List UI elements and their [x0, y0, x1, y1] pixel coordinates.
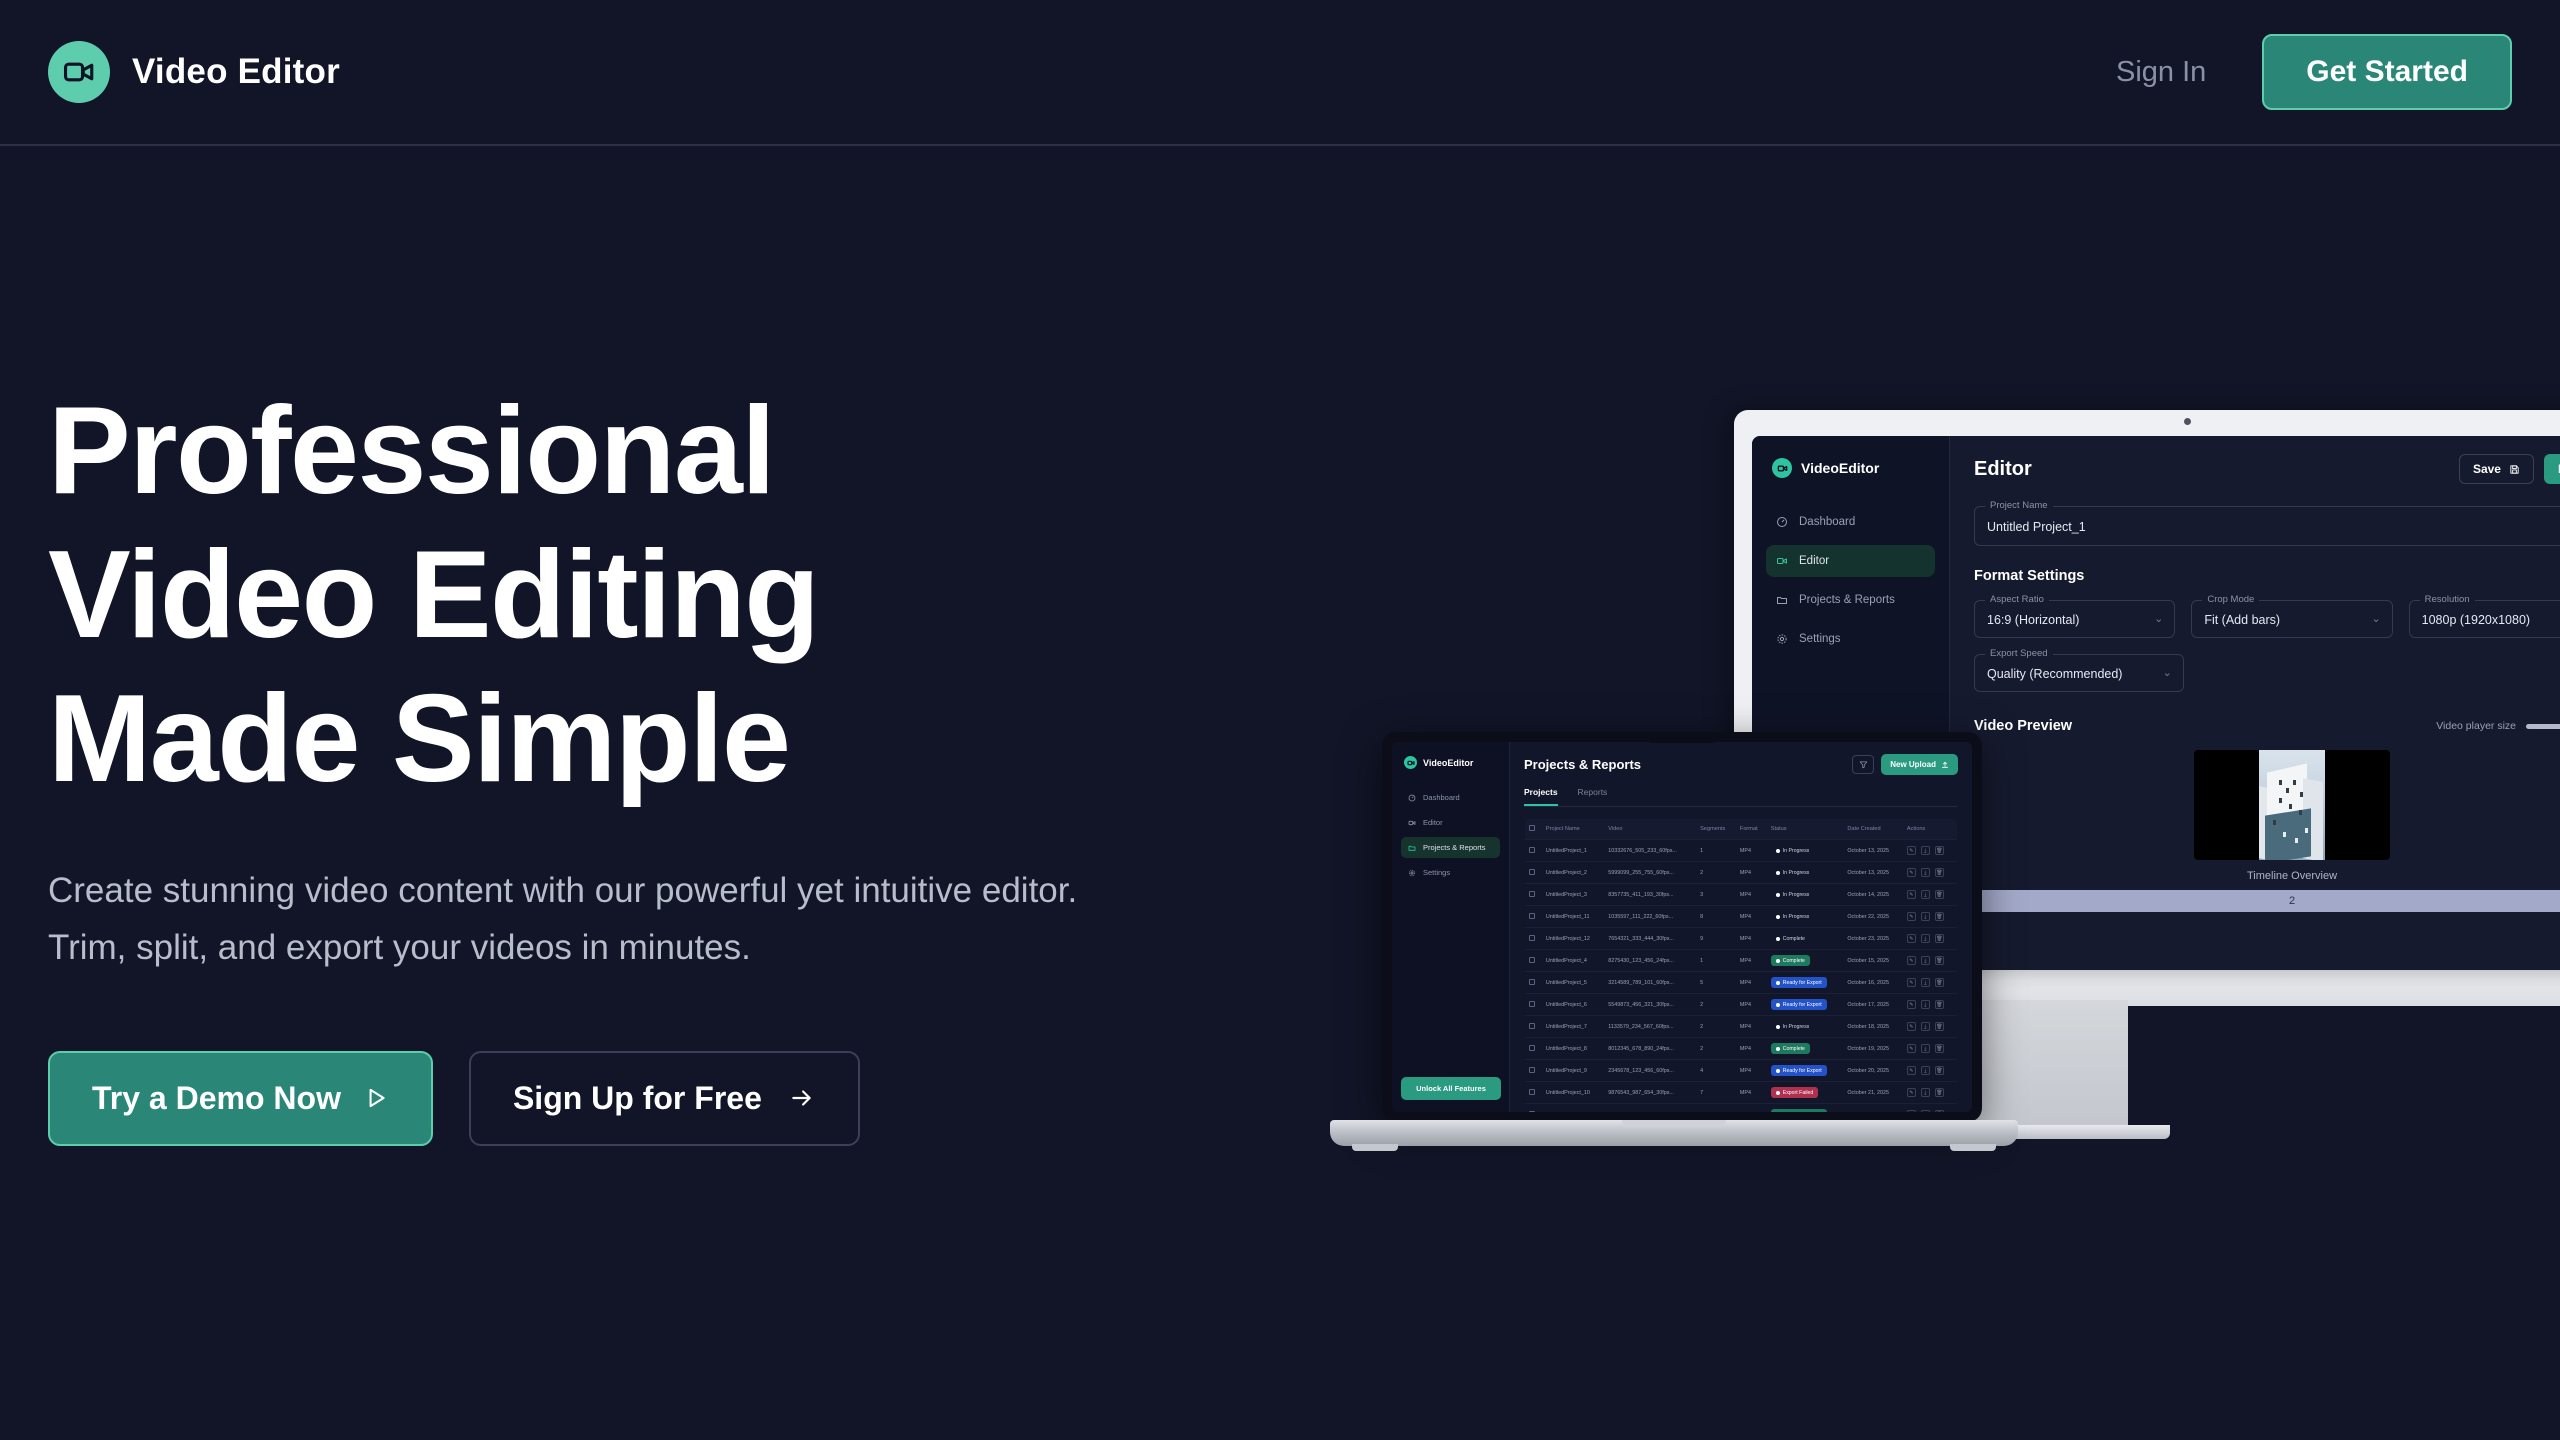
table-row[interactable]: UntitledProject_111035597_111_222_60fps.… — [1525, 906, 1958, 928]
trash-icon[interactable]: 🗑 — [1935, 956, 1944, 965]
cell-date-created: October 24, 2025 — [1843, 1104, 1903, 1113]
trash-icon[interactable]: 🗑 — [1935, 1044, 1944, 1053]
sign-up-button[interactable]: Sign Up for Free — [469, 1051, 860, 1146]
sign-up-label: Sign Up for Free — [513, 1080, 762, 1117]
col-format[interactable]: Format — [1736, 819, 1767, 840]
cell-video: 1035597_111_222_60fps... — [1604, 906, 1696, 928]
status-badge: Complete — [1771, 955, 1810, 966]
sidebar-label: Dashboard — [1799, 516, 1855, 528]
cell-date-created: October 17, 2025 — [1843, 994, 1903, 1016]
aspect-ratio-value: 16:9 (Horizontal) — [1987, 613, 2079, 627]
status-badge: Complete — [1771, 933, 1810, 944]
cell-status: Ready for Export — [1767, 994, 1844, 1016]
editor-main: Editor Save Export Project — [1950, 436, 2560, 970]
cell-status: Ready for Export — [1767, 1060, 1844, 1082]
edit-icon[interactable]: ✎ — [1907, 1000, 1916, 1009]
download-icon[interactable]: ⤓ — [1921, 1066, 1930, 1075]
cell-date-created: October 20, 2025 — [1843, 1060, 1903, 1082]
sidebar-item-dashboard[interactable]: Dashboard — [1401, 787, 1500, 808]
laptop-base-notch — [1622, 1120, 1726, 1127]
sidebar-item-dashboard[interactable]: Dashboard — [1766, 506, 1935, 538]
export-speed-label: Export Speed — [1985, 648, 2053, 659]
edit-icon[interactable]: ✎ — [1907, 1066, 1916, 1075]
projects-main: Projects & Reports New Upload — [1510, 742, 1972, 1112]
sidebar-label: Settings — [1423, 868, 1450, 877]
page-title: Professional Video Editing Made Simple — [48, 380, 1148, 811]
row-checkbox[interactable] — [1525, 994, 1542, 1016]
hero-subtitle: Create stunning video content with our p… — [48, 863, 1118, 976]
cell-date-created: October 21, 2025 — [1843, 1082, 1903, 1104]
cell-project-name: UntitledProject_10 — [1542, 1082, 1604, 1104]
edit-icon[interactable]: ✎ — [1907, 978, 1916, 987]
format-settings-row-2: Export Speed Quality (Recommended) ⌄ — [1974, 654, 2560, 692]
cell-status: In Progress — [1767, 840, 1844, 862]
laptop-lid: VideoEditor Dashboard Editor Projec — [1382, 732, 1982, 1122]
brand-name: Video Editor — [132, 52, 340, 92]
site-header: Video Editor Sign In Get Started — [0, 0, 2560, 146]
cell-segments: 3 — [1696, 884, 1736, 906]
edit-icon[interactable]: ✎ — [1907, 912, 1916, 921]
cell-segments: 9 — [1696, 928, 1736, 950]
upload-icon — [1941, 761, 1949, 769]
projects-table: Project Name Video Segments Format Statu… — [1524, 818, 1958, 1112]
cell-format: MP4 — [1736, 950, 1767, 972]
gauge-icon — [1776, 516, 1788, 528]
cell-status: Complete — [1767, 928, 1844, 950]
edit-icon[interactable]: ✎ — [1907, 956, 1916, 965]
cell-actions: ✎⤓🗑 — [1903, 1060, 1958, 1082]
cell-actions: ✎⤓🗑 — [1903, 994, 1958, 1016]
chevron-down-icon: ⌄ — [2154, 612, 2163, 625]
cell-actions: ✎⤓🗑 — [1903, 906, 1958, 928]
player-size-control[interactable]: Video player size — [2436, 720, 2560, 732]
cell-actions: ✎⤓🗑 — [1903, 1016, 1958, 1038]
chevron-down-icon: ⌄ — [2163, 666, 2172, 679]
download-icon[interactable]: ⤓ — [1921, 1022, 1930, 1031]
sidebar-label: Projects & Reports — [1799, 594, 1895, 606]
trash-icon[interactable]: 🗑 — [1935, 1110, 1944, 1112]
edit-icon[interactable]: ✎ — [1907, 890, 1916, 899]
cell-format: MP4 — [1736, 1038, 1767, 1060]
cell-segments: 2 — [1696, 1016, 1736, 1038]
cell-actions: ✎⤓🗑 — [1903, 1104, 1958, 1113]
video-camera-icon — [1404, 756, 1417, 769]
editor-topbar-buttons: Save Export — [2459, 454, 2560, 484]
project-name-field[interactable]: Project Name Untitled Project_1 — [1974, 506, 2560, 546]
laptop-foot-left — [1352, 1144, 1398, 1151]
status-badge: In Progress — [1771, 845, 1815, 856]
hero-title-line-3: Made Simple — [48, 668, 1148, 812]
projects-brand-name: VideoEditor — [1423, 758, 1473, 768]
aspect-ratio-label: Aspect Ratio — [1985, 594, 2049, 605]
player-size-label: Video player size — [2436, 720, 2516, 732]
cell-date-created: October 13, 2025 — [1843, 862, 1903, 884]
table-row[interactable]: UntitledProject_38357735_411_193_30fps..… — [1525, 884, 1958, 906]
editor-brand: VideoEditor — [1766, 458, 1935, 478]
col-segments[interactable]: Segments — [1696, 819, 1736, 840]
row-checkbox[interactable] — [1525, 1060, 1542, 1082]
status-badge: Complete — [1771, 1043, 1810, 1054]
edit-icon[interactable]: ✎ — [1907, 934, 1916, 943]
sidebar-item-editor[interactable]: Editor — [1766, 545, 1935, 577]
cell-project-name: UntitledProject_13 — [1542, 1104, 1604, 1113]
format-settings-title: Format Settings — [1974, 568, 2560, 584]
projects-tabs: Projects Reports — [1524, 787, 1958, 807]
col-status[interactable]: Status — [1767, 819, 1844, 840]
video-icon — [1408, 819, 1416, 827]
crop-mode-select[interactable]: Crop Mode Fit (Add bars) ⌄ — [2191, 600, 2392, 638]
trash-icon[interactable]: 🗑 — [1935, 1088, 1944, 1097]
video-camera-icon — [1772, 458, 1792, 478]
cell-video: 1357924_555_666_60fps... — [1604, 1104, 1696, 1113]
editor-brand-name: VideoEditor — [1801, 460, 1879, 476]
crop-mode-label: Crop Mode — [2202, 594, 2259, 605]
trash-icon[interactable]: 🗑 — [1935, 1022, 1944, 1031]
play-icon — [363, 1085, 389, 1111]
timeline-bar[interactable]: 2 — [1974, 890, 2560, 912]
select-all-checkbox[interactable] — [1525, 819, 1542, 840]
download-icon[interactable]: ⤓ — [1921, 1110, 1930, 1112]
cell-video: 8357735_411_193_30fps... — [1604, 884, 1696, 906]
hero-title-line-2: Video Editing — [48, 524, 1148, 668]
cell-project-name: UntitledProject_9 — [1542, 1060, 1604, 1082]
folder-icon — [1776, 594, 1788, 606]
table-row[interactable]: UntitledProject_92345678_123_456_60fps..… — [1525, 1060, 1958, 1082]
table-row[interactable]: UntitledProject_53214589_789_101_60fps..… — [1525, 972, 1958, 994]
col-actions: Actions — [1903, 819, 1958, 840]
projects-app-screen: VideoEditor Dashboard Editor Projec — [1392, 742, 1972, 1112]
cell-status: Ready for Export — [1767, 1104, 1844, 1113]
trash-icon[interactable]: 🗑 — [1935, 868, 1944, 877]
cell-segments: 2 — [1696, 862, 1736, 884]
cell-segments: 5 — [1696, 972, 1736, 994]
cell-actions: ✎⤓🗑 — [1903, 972, 1958, 994]
row-checkbox[interactable] — [1525, 928, 1542, 950]
hero-cta-group: Try a Demo Now Sign Up for Free — [48, 1051, 1148, 1146]
status-badge: Export Failed — [1771, 1087, 1819, 1098]
edit-icon[interactable]: ✎ — [1907, 868, 1916, 877]
cell-actions: ✎⤓🗑 — [1903, 840, 1958, 862]
cell-segments: 1 — [1696, 950, 1736, 972]
cell-segments: 7 — [1696, 1082, 1736, 1104]
projects-brand: VideoEditor — [1401, 756, 1500, 769]
save-label: Save — [2473, 462, 2501, 476]
cell-project-name: UntitledProject_6 — [1542, 994, 1604, 1016]
row-checkbox[interactable] — [1525, 840, 1542, 862]
laptop-device: VideoEditor Dashboard Editor Projec — [1330, 732, 2018, 1182]
cell-format: MP4 — [1736, 862, 1767, 884]
trash-icon[interactable]: 🗑 — [1935, 1000, 1944, 1009]
col-video[interactable]: Video — [1604, 819, 1696, 840]
export-speed-select[interactable]: Export Speed Quality (Recommended) ⌄ — [1974, 654, 2184, 692]
table-row[interactable]: UntitledProject_110332676_505_233_60fps.… — [1525, 840, 1958, 862]
export-speed-value: Quality (Recommended) — [1987, 667, 2122, 681]
projects-header-actions: New Upload — [1852, 754, 1958, 775]
cell-format: MP4 — [1736, 884, 1767, 906]
funnel-icon[interactable] — [1852, 755, 1874, 774]
cell-project-name: UntitledProject_11 — [1542, 906, 1604, 928]
cell-status: In Progress — [1767, 884, 1844, 906]
trash-icon[interactable]: 🗑 — [1935, 846, 1944, 855]
cell-status: In Progress — [1767, 1016, 1844, 1038]
new-upload-label: New Upload — [1890, 760, 1936, 769]
gear-icon — [1408, 869, 1416, 877]
cell-project-name: UntitledProject_1 — [1542, 840, 1604, 862]
cell-segments: 10 — [1696, 1104, 1736, 1113]
cell-date-created: October 22, 2025 — [1843, 906, 1903, 928]
crop-mode-value: Fit (Add bars) — [2204, 613, 2280, 627]
player-size-slider[interactable] — [2526, 724, 2560, 729]
preview-thumbnail — [2259, 750, 2325, 860]
product-mockups: VideoEditor Dashboard Editor — [1330, 380, 2560, 1300]
cell-status: Export Failed — [1767, 1082, 1844, 1104]
cell-status: Complete — [1767, 1038, 1844, 1060]
cell-format: MP4 — [1736, 1060, 1767, 1082]
table-row[interactable]: UntitledProject_48275430_123_456_24fps..… — [1525, 950, 1958, 972]
cell-project-name: UntitledProject_12 — [1542, 928, 1604, 950]
download-icon[interactable]: ⤓ — [1921, 1088, 1930, 1097]
download-icon[interactable]: ⤓ — [1921, 1044, 1930, 1053]
row-checkbox[interactable] — [1525, 1082, 1542, 1104]
cell-segments: 2 — [1696, 994, 1736, 1016]
save-button[interactable]: Save — [2459, 454, 2534, 484]
cell-video: 10332676_505_233_60fps... — [1604, 840, 1696, 862]
cell-date-created: October 15, 2025 — [1843, 950, 1903, 972]
row-checkbox[interactable] — [1525, 906, 1542, 928]
laptop-notch — [1646, 734, 1718, 743]
projects-header: Projects & Reports New Upload — [1524, 754, 1958, 775]
unlock-all-features-button[interactable]: Unlock All Features — [1401, 1077, 1501, 1100]
status-badge: In Progress — [1771, 867, 1815, 878]
sidebar-label: Settings — [1799, 633, 1841, 645]
row-checkbox[interactable] — [1525, 862, 1542, 884]
cell-date-created: October 14, 2025 — [1843, 884, 1903, 906]
cell-actions: ✎⤓🗑 — [1903, 1038, 1958, 1060]
sidebar-item-projects-reports[interactable]: Projects & Reports — [1766, 584, 1935, 616]
video-preview-header: Video Preview Video player size — [1974, 718, 2560, 734]
cell-actions: ✎⤓🗑 — [1903, 1082, 1958, 1104]
sidebar-label: Editor — [1423, 818, 1443, 827]
sidebar-item-settings[interactable]: Settings — [1766, 623, 1935, 655]
header-actions: Sign In Get Started — [2116, 34, 2512, 110]
cell-status: Ready for Export — [1767, 972, 1844, 994]
download-icon[interactable]: ⤓ — [1921, 978, 1930, 987]
cell-video: 7654321_333_444_30fps... — [1604, 928, 1696, 950]
project-name-value: Untitled Project_1 — [1987, 520, 2086, 534]
table-row[interactable]: UntitledProject_25999099_255_755_60fps..… — [1525, 862, 1958, 884]
row-checkbox[interactable] — [1525, 1104, 1542, 1113]
status-badge: Ready for Export — [1771, 999, 1827, 1010]
sidebar-item-editor[interactable]: Editor — [1401, 812, 1500, 833]
cell-format: MP4 — [1736, 840, 1767, 862]
table-row[interactable]: UntitledProject_127654321_333_444_30fps.… — [1525, 928, 1958, 950]
cell-segments: 2 — [1696, 1038, 1736, 1060]
cell-date-created: October 18, 2025 — [1843, 1016, 1903, 1038]
cell-format: MP4 — [1736, 1104, 1767, 1113]
editor-topbar: Editor Save Export — [1974, 454, 2560, 484]
cell-project-name: UntitledProject_7 — [1542, 1016, 1604, 1038]
sidebar-label: Projects & Reports — [1423, 843, 1486, 852]
resolution-value: 1080p (1920x1080) — [2422, 613, 2530, 627]
row-checkbox[interactable] — [1525, 950, 1542, 972]
timeline-overview-label: Timeline Overview — [1974, 870, 2560, 882]
row-checkbox[interactable] — [1525, 1038, 1542, 1060]
aspect-ratio-select[interactable]: Aspect Ratio 16:9 (Horizontal) ⌄ — [1974, 600, 2175, 638]
trash-icon[interactable]: 🗑 — [1935, 1066, 1944, 1075]
table-body: UntitledProject_110332676_505_233_60fps.… — [1525, 840, 1958, 1113]
download-icon[interactable]: ⤓ — [1921, 956, 1930, 965]
hero-title-line-1: Professional — [48, 380, 1148, 524]
cell-segments: 8 — [1696, 906, 1736, 928]
download-icon[interactable]: ⤓ — [1921, 868, 1930, 877]
download-icon[interactable]: ⤓ — [1921, 890, 1930, 899]
cell-actions: ✎⤓🗑 — [1903, 862, 1958, 884]
webcam-icon — [2184, 418, 2191, 425]
download-icon[interactable]: ⤓ — [1921, 1000, 1930, 1009]
cell-video: 1133579_234_567_60fps... — [1604, 1016, 1696, 1038]
cell-status: Complete — [1767, 950, 1844, 972]
cell-format: MP4 — [1736, 906, 1767, 928]
projects-page-title: Projects & Reports — [1524, 757, 1641, 772]
table-row[interactable]: UntitledProject_88012345_678_890_24fps..… — [1525, 1038, 1958, 1060]
table-header: Project Name Video Segments Format Statu… — [1525, 819, 1958, 840]
cell-status: In Progress — [1767, 906, 1844, 928]
floppy-disk-icon — [2509, 464, 2520, 475]
format-settings-row-1: Aspect Ratio 16:9 (Horizontal) ⌄ Crop Mo… — [1974, 600, 2560, 638]
cell-date-created: October 19, 2025 — [1843, 1038, 1903, 1060]
table-row[interactable]: UntitledProject_131357924_555_666_60fps.… — [1525, 1104, 1958, 1113]
cell-format: MP4 — [1736, 972, 1767, 994]
hero-section: Professional Video Editing Made Simple C… — [48, 380, 1148, 1146]
video-preview-player[interactable] — [2194, 750, 2390, 860]
cell-video: 8012345_678_890_24fps... — [1604, 1038, 1696, 1060]
cell-video: 3214589_789_101_60fps... — [1604, 972, 1696, 994]
resolution-select[interactable]: Resolution 1080p (1920x1080) ⌄ — [2409, 600, 2560, 638]
edit-icon[interactable]: ✎ — [1907, 1022, 1916, 1031]
cell-video: 5999099_255_755_60fps... — [1604, 862, 1696, 884]
status-badge: Ready for Export — [1771, 977, 1827, 988]
cell-date-created: October 13, 2025 — [1843, 840, 1903, 862]
trash-icon[interactable]: 🗑 — [1935, 934, 1944, 943]
cell-format: MP4 — [1736, 1016, 1767, 1038]
tab-projects[interactable]: Projects — [1524, 787, 1558, 806]
brand[interactable]: Video Editor — [48, 41, 340, 103]
cell-date-created: October 23, 2025 — [1843, 928, 1903, 950]
download-icon[interactable]: ⤓ — [1921, 934, 1930, 943]
tab-reports[interactable]: Reports — [1578, 787, 1608, 806]
trash-icon[interactable]: 🗑 — [1935, 890, 1944, 899]
col-date-created[interactable]: Date Created — [1843, 819, 1903, 840]
arrow-right-icon — [788, 1085, 816, 1111]
table-row[interactable]: UntitledProject_71133579_234_567_60fps..… — [1525, 1016, 1958, 1038]
cell-actions: ✎⤓🗑 — [1903, 928, 1958, 950]
sidebar-label: Dashboard — [1423, 793, 1460, 802]
table-row[interactable]: UntitledProject_65549873_456_321_30fps..… — [1525, 994, 1958, 1016]
chevron-down-icon: ⌄ — [2371, 612, 2380, 625]
cell-segments: 4 — [1696, 1060, 1736, 1082]
row-checkbox[interactable] — [1525, 972, 1542, 994]
laptop-foot-right — [1950, 1144, 1996, 1151]
sidebar-label: Editor — [1799, 555, 1829, 567]
projects-sidebar: VideoEditor Dashboard Editor Projec — [1392, 742, 1510, 1112]
cell-video: 8275430_123_456_24fps... — [1604, 950, 1696, 972]
cell-format: MP4 — [1736, 994, 1767, 1016]
cell-date-created: October 16, 2025 — [1843, 972, 1903, 994]
cell-status: In Progress — [1767, 862, 1844, 884]
cell-project-name: UntitledProject_8 — [1542, 1038, 1604, 1060]
edit-icon[interactable]: ✎ — [1907, 1088, 1916, 1097]
video-camera-icon — [48, 41, 110, 103]
cell-project-name: UntitledProject_4 — [1542, 950, 1604, 972]
sidebar-item-settings[interactable]: Settings — [1401, 862, 1500, 883]
cell-format: MP4 — [1736, 928, 1767, 950]
cell-project-name: UntitledProject_5 — [1542, 972, 1604, 994]
status-badge: In Progress — [1771, 911, 1815, 922]
download-icon[interactable]: ⤓ — [1921, 912, 1930, 921]
col-project-name[interactable]: Project Name — [1542, 819, 1604, 840]
gear-icon — [1776, 633, 1788, 645]
table-row[interactable]: UntitledProject_109876543_987_654_30fps.… — [1525, 1082, 1958, 1104]
new-upload-button[interactable]: New Upload — [1881, 754, 1958, 775]
cell-segments: 1 — [1696, 840, 1736, 862]
get-started-button[interactable]: Get Started — [2262, 34, 2512, 110]
edit-icon[interactable]: ✎ — [1907, 846, 1916, 855]
cell-actions: ✎⤓🗑 — [1903, 950, 1958, 972]
row-checkbox[interactable] — [1525, 1016, 1542, 1038]
landing-page: Video Editor Sign In Get Started Profess… — [0, 0, 2560, 1440]
trash-icon[interactable]: 🗑 — [1935, 978, 1944, 987]
edit-icon[interactable]: ✎ — [1907, 1044, 1916, 1053]
cell-format: MP4 — [1736, 1082, 1767, 1104]
try-demo-label: Try a Demo Now — [92, 1080, 341, 1117]
row-checkbox[interactable] — [1525, 884, 1542, 906]
editor-page-title: Editor — [1974, 458, 2032, 481]
table-header-row: Project Name Video Segments Format Statu… — [1525, 819, 1958, 840]
cell-video: 2345678_123_456_60fps... — [1604, 1060, 1696, 1082]
project-name-label: Project Name — [1985, 500, 2053, 511]
status-badge: In Progress — [1771, 1021, 1815, 1032]
try-demo-button[interactable]: Try a Demo Now — [48, 1051, 433, 1146]
cell-video: 5549873_456_321_30fps... — [1604, 994, 1696, 1016]
status-badge: Ready for Export — [1771, 1109, 1827, 1112]
sign-in-link[interactable]: Sign In — [2116, 56, 2206, 89]
export-button[interactable]: Export — [2544, 454, 2560, 484]
resolution-label: Resolution — [2420, 594, 2475, 605]
edit-icon[interactable]: ✎ — [1907, 1110, 1916, 1112]
status-badge: In Progress — [1771, 889, 1815, 900]
video-icon — [1776, 555, 1788, 567]
sidebar-item-projects-reports[interactable]: Projects & Reports — [1401, 837, 1500, 858]
gauge-icon — [1408, 794, 1416, 802]
status-badge: Ready for Export — [1771, 1065, 1827, 1076]
cell-project-name: UntitledProject_3 — [1542, 884, 1604, 906]
trash-icon[interactable]: 🗑 — [1935, 912, 1944, 921]
cell-project-name: UntitledProject_2 — [1542, 862, 1604, 884]
cell-video: 9876543_987_654_30fps... — [1604, 1082, 1696, 1104]
folder-icon — [1408, 844, 1416, 852]
cell-actions: ✎⤓🗑 — [1903, 884, 1958, 906]
download-icon[interactable]: ⤓ — [1921, 846, 1930, 855]
